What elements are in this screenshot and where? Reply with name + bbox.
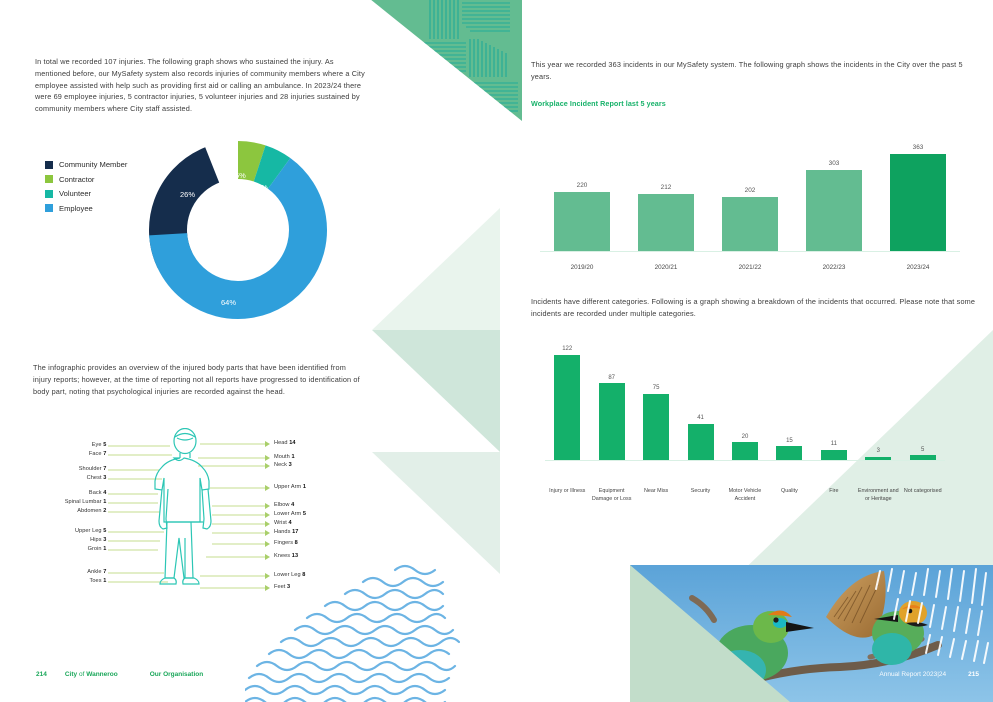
bar-value: 87 bbox=[608, 375, 615, 381]
x-tick: 2023/24 bbox=[878, 264, 958, 271]
bodypart-label-upper-leg: Upper Leg 5 bbox=[75, 528, 108, 534]
bar-security bbox=[688, 424, 714, 460]
incident-categories-bar-chart: 122 87 75 41 20 15 bbox=[545, 336, 945, 504]
bar-column: 122 bbox=[545, 346, 589, 460]
injury-by-person-type-donut-chart: 26% 5% 5% 64% bbox=[148, 140, 328, 320]
hatch-pattern bbox=[370, 0, 522, 121]
bar-fire bbox=[821, 450, 847, 460]
human-body-figure bbox=[155, 429, 211, 585]
bar-value: 5 bbox=[921, 447, 924, 453]
bar-column: 41 bbox=[678, 346, 722, 460]
right-page-footer: Annual Report 2023|24 215 bbox=[879, 671, 979, 678]
page-number-left: 214 bbox=[36, 671, 47, 678]
pale-triangle-bottom bbox=[372, 452, 500, 574]
legend-label: Contractor bbox=[59, 175, 94, 184]
bodypart-label-groin: Groin 1 bbox=[88, 546, 108, 552]
legend-swatch-icon bbox=[45, 161, 53, 169]
legend-item-contractor: Contractor bbox=[45, 175, 127, 184]
bodypart-label-elbow: Elbow 4 bbox=[274, 502, 294, 508]
x-tick: 2019/20 bbox=[542, 264, 622, 271]
bar-value: 212 bbox=[661, 184, 672, 191]
donut-chart-legend: Community Member Contractor Volunteer Em… bbox=[45, 160, 127, 218]
bodypart-label-ankle: Ankle 7 bbox=[87, 569, 108, 575]
annual-report-label: Annual Report 2023|24 bbox=[879, 671, 946, 678]
bar-injury-or-illness bbox=[554, 355, 580, 460]
legend-item-community-member: Community Member bbox=[45, 160, 127, 169]
bar-value: 220 bbox=[577, 182, 588, 189]
bar-column: 212 bbox=[626, 144, 706, 251]
x-tick: Not categorised bbox=[901, 488, 945, 504]
bodypart-label-fingers: Fingers 8 bbox=[274, 540, 298, 546]
x-tick: Environment and or Heritage bbox=[856, 488, 900, 504]
bodypart-label-back: Back 4 bbox=[89, 490, 108, 496]
bar-column: 3 bbox=[856, 346, 900, 460]
bar-column: 15 bbox=[767, 346, 811, 460]
bodypart-label-eye: Eye 5 bbox=[92, 442, 108, 448]
bar-value: 75 bbox=[653, 385, 660, 391]
bar-value: 41 bbox=[697, 415, 704, 421]
organisation-name: City of Wanneroo bbox=[65, 671, 118, 678]
bar-column: 75 bbox=[634, 346, 678, 460]
chart2-bars: 122 87 75 41 20 15 bbox=[545, 346, 945, 460]
donut-value-contractor: 5% bbox=[235, 171, 246, 180]
bar-value: 3 bbox=[877, 448, 880, 454]
bodypart-label-hands: Hands 17 bbox=[274, 529, 298, 535]
legend-swatch-icon bbox=[45, 204, 53, 212]
left-page-footer: 214 City of Wanneroo Our Organisation bbox=[36, 671, 203, 678]
legend-label: Employee bbox=[59, 204, 93, 213]
donut-value-employee: 64% bbox=[221, 298, 236, 307]
bodypart-label-mouth: Mouth 1 bbox=[274, 454, 295, 460]
legend-swatch-icon bbox=[45, 190, 53, 198]
bodypart-label-spinal-lumbar: Spinal Lumbar 1 bbox=[65, 499, 108, 505]
donut-value-community-member: 26% bbox=[180, 190, 195, 199]
bar-value: 20 bbox=[742, 434, 749, 440]
bar-2019-20 bbox=[554, 192, 610, 251]
bar-quality bbox=[776, 446, 802, 459]
bar-2021-22 bbox=[722, 197, 778, 251]
x-tick: Fire bbox=[812, 488, 856, 504]
chart1-axis-line bbox=[540, 251, 960, 253]
bar-value: 303 bbox=[829, 160, 840, 167]
chart1-title: Workplace Incident Report last 5 years bbox=[531, 99, 666, 108]
chart2-axis-line bbox=[545, 460, 945, 462]
bodypart-label-chest: Chest 3 bbox=[87, 475, 108, 481]
x-tick: Injury or Illness bbox=[545, 488, 589, 504]
chart1-bars: 220 212 202 303 363 bbox=[540, 144, 960, 251]
chart1-x-axis-labels: 2019/20 2020/21 2021/22 2022/23 2023/24 bbox=[540, 264, 960, 271]
injured-body-parts-infographic: Eye 5 Face 7 Shoulder 7 Chest 3 Back 4 S… bbox=[60, 428, 370, 593]
bar-column: 303 bbox=[794, 144, 874, 251]
bodypart-label-upper-arm: Upper Arm 1 bbox=[274, 484, 306, 490]
legend-swatch-icon bbox=[45, 175, 53, 183]
legend-item-volunteer: Volunteer bbox=[45, 189, 127, 198]
bar-value: 122 bbox=[562, 346, 572, 352]
bar-column: 20 bbox=[723, 346, 767, 460]
bar-column: 87 bbox=[589, 346, 633, 460]
bar-value: 363 bbox=[913, 144, 924, 151]
bar-2023-24 bbox=[890, 154, 946, 251]
pale-triangle-upper bbox=[372, 208, 500, 330]
photo-illustration bbox=[630, 565, 993, 702]
legend-item-employee: Employee bbox=[45, 204, 127, 213]
bar-near-miss bbox=[643, 394, 669, 460]
bar-equipment-damage-or-loss bbox=[599, 383, 625, 459]
bodypart-label-neck: Neck 3 bbox=[274, 462, 292, 468]
bar-value: 202 bbox=[745, 187, 756, 194]
donut-svg bbox=[148, 140, 328, 320]
hatched-triangle-decoration bbox=[370, 0, 522, 121]
bodypart-label-face: Face 7 bbox=[89, 451, 108, 457]
bar-2020-21 bbox=[638, 194, 694, 250]
right-intro-paragraph: This year we recorded 363 incidents in o… bbox=[531, 59, 977, 83]
x-tick: Near Miss bbox=[634, 488, 678, 504]
bodypart-label-head: Head 14 bbox=[274, 440, 296, 446]
bodypart-label-wrist: Wrist 4 bbox=[274, 520, 292, 526]
bar-column: 220 bbox=[542, 144, 622, 251]
x-tick: Equipment Damage or Loss bbox=[589, 488, 633, 504]
bar-motor-vehicle-accident bbox=[732, 442, 758, 459]
bar-2022-23 bbox=[806, 170, 862, 251]
annual-report-spread: In total we recorded 107 injuries. The f… bbox=[0, 0, 993, 702]
bodypart-label-knees: Knees 13 bbox=[274, 553, 298, 559]
bar-value: 11 bbox=[831, 441, 837, 447]
chart2-x-axis-labels: Injury or Illness Equipment Damage or Lo… bbox=[545, 488, 945, 504]
bar-column: 11 bbox=[812, 346, 856, 460]
bodypart-label-lower-arm: Lower Arm 5 bbox=[274, 511, 306, 517]
bodypart-label-lower-leg: Lower Leg 8 bbox=[274, 572, 305, 578]
pale-triangle-lower bbox=[372, 330, 500, 452]
x-tick: 2020/21 bbox=[626, 264, 706, 271]
x-tick: 2021/22 bbox=[710, 264, 790, 271]
workplace-incident-report-bar-chart: 220 212 202 303 363 2019/20 2020/ bbox=[540, 130, 960, 278]
bodypart-label-abdomen: Abdomen 2 bbox=[77, 508, 108, 514]
bar-column: 202 bbox=[710, 144, 790, 251]
legend-label: Community Member bbox=[59, 160, 127, 169]
x-tick: Security bbox=[678, 488, 722, 504]
infographic-intro-paragraph: The infographic provides an overview of … bbox=[33, 362, 363, 397]
x-tick: 2022/23 bbox=[794, 264, 874, 271]
left-intro-paragraph: In total we recorded 107 injuries. The f… bbox=[35, 56, 367, 115]
bar-value: 15 bbox=[786, 438, 793, 444]
bar-column: 363 bbox=[878, 144, 958, 251]
bodypart-label-hips: Hips 3 bbox=[90, 537, 108, 543]
bee-eater-birds-photo bbox=[630, 565, 993, 702]
section-name-left: Our Organisation bbox=[150, 671, 203, 678]
bodypart-label-feet: Feet 3 bbox=[274, 584, 290, 590]
page-number-right: 215 bbox=[968, 671, 979, 678]
bodypart-label-toes: Toes 1 bbox=[90, 578, 108, 584]
x-tick: Quality bbox=[767, 488, 811, 504]
bar-column: 5 bbox=[901, 346, 945, 460]
legend-label: Volunteer bbox=[59, 189, 91, 198]
bodypart-label-shoulder: Shoulder 7 bbox=[79, 466, 108, 472]
right-intro-paragraph-2: Incidents have different categories. Fol… bbox=[531, 296, 977, 320]
donut-value-volunteer: 5% bbox=[257, 183, 268, 192]
x-tick: Motor Vehicle Accident bbox=[723, 488, 767, 504]
